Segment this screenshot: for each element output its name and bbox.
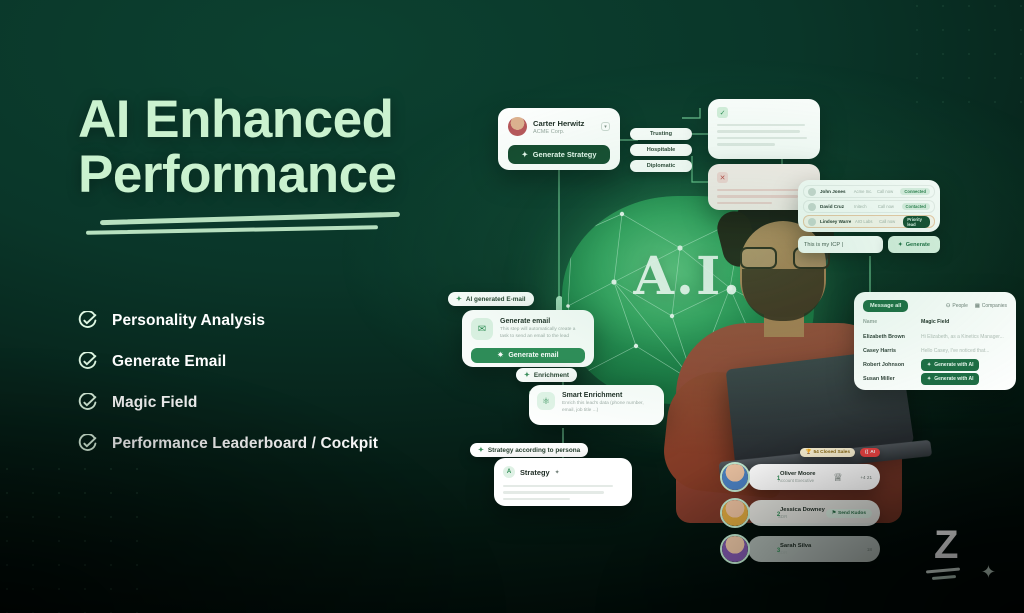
persona-name: Carter Herwitz [533, 119, 584, 128]
sparkle-icon: ✦ [927, 362, 931, 368]
generate-email-description: This step will automatically create a ta… [500, 327, 585, 341]
ai-email-chip: ✦ AI generated E-mail [448, 292, 534, 306]
leaderboard-row[interactable]: 1 Oliver Moore Account Executive ♕ +4 21 [720, 462, 880, 492]
building-icon: ▤ [975, 303, 980, 309]
envelope-icon: ✉ [471, 318, 493, 340]
table-row[interactable]: Lindsey Warren AIO Labs Call now Priorit… [803, 215, 935, 228]
leaderboard-name: Jessica Downey [780, 507, 825, 513]
wand-icon: ✦ [522, 150, 528, 159]
flag-icon: ⚑ [832, 511, 836, 516]
wand-icon: ✦ [524, 371, 530, 379]
tab-people-label: People [952, 303, 968, 309]
avatar [720, 462, 750, 492]
contact-name: Casey Harris [863, 348, 921, 354]
generate-with-ai-button[interactable]: ✦ Generate with AI [921, 373, 979, 385]
check-circle-icon [78, 352, 97, 371]
personality-tag[interactable]: Trusting [630, 128, 692, 140]
generate-with-ai-label: Generate with AI [934, 362, 973, 368]
ai-badge-label: AI [870, 450, 875, 455]
generate-with-ai-label: Generate with AI [934, 376, 973, 382]
lead-company: Initech [854, 204, 874, 209]
lead-company: AIO Labs [855, 219, 875, 224]
personality-tag-list: Trusting Hospitable Diplomatic [630, 128, 708, 176]
avatar [720, 498, 750, 528]
status-badge: Contacted [902, 203, 930, 210]
persona-card[interactable]: Carter Herwitz ACME Corp. ▾ ✦ Generate S… [498, 108, 620, 170]
feature-label: Performance Leaderboard / Cockpit [110, 433, 384, 455]
persona-company: ACME Corp. [533, 129, 584, 135]
chevron-down-icon[interactable]: ▾ [601, 122, 610, 131]
generate-strategy-button[interactable]: ✦ Generate Strategy [508, 145, 610, 164]
generate-email-button-label: Generate email [508, 352, 558, 359]
generate-email-card: ✉ Generate email This step will automati… [462, 310, 594, 367]
leaderboard-row[interactable]: 3 Sarah Silva SDR 18 [720, 534, 880, 564]
tab-companies-label: Companies [982, 303, 1007, 309]
contact-name: Elizabeth Brown [863, 334, 921, 340]
feature-label: Personality Analysis [110, 310, 271, 332]
enrichment-chip: ✦ Enrichment [516, 368, 577, 382]
icp-input[interactable]: This is my ICP | [798, 236, 883, 253]
lead-list-card: John Jones Acme Inc. Call now Connected … [798, 180, 940, 232]
closed-sales-badge: 🏆 54 Closed Sales [800, 448, 855, 457]
table-row: Robert Johnson ✦ Generate with AI [863, 358, 1007, 372]
generate-email-button[interactable]: ✷ Generate email [471, 348, 585, 363]
lead-name: David Cruz [820, 204, 850, 209]
signal-icon: (( [865, 450, 868, 455]
trophy-icon: 🏆 [805, 450, 811, 455]
ai-badge: (( AI [860, 448, 880, 457]
performance-leaderboard: 🏆 54 Closed Sales (( AI 1 Oliver Moore A… [720, 448, 880, 570]
feature-label: Magic Field [110, 392, 204, 414]
check-circle-icon [78, 393, 97, 412]
magic-field-card: Message all ⚇ People ▤ Companies Name Ma… [854, 292, 1016, 390]
close-icon: ✕ [717, 172, 728, 183]
poster-canvas: AI Enhanced Performance Personality Anal… [0, 0, 1024, 613]
enrichment-chip-label: Enrichment [534, 372, 569, 379]
avatar [808, 218, 816, 226]
positive-strategy-card: ✓ [708, 99, 820, 159]
logo-letter: Z [934, 525, 957, 565]
magic-field-value: Hi Elizabeth, as a Kinetics Manager... [921, 334, 1007, 340]
leaderboard-points: +4 21 [860, 475, 872, 480]
wand-icon: ✦ [456, 295, 462, 303]
contact-name: Susan Miller [863, 376, 921, 382]
table-row[interactable]: David Cruz Initech Call now Contacted [803, 200, 935, 213]
product-collage: A.I. Carter Herwitz ACME Corp. ▾ [430, 0, 1024, 613]
headline-underline [86, 212, 406, 238]
column-header-magic-field: Magic Field [921, 319, 949, 325]
tab-companies[interactable]: ▤ Companies [975, 303, 1007, 309]
magic-field-value: Hello Casey, I've noticed that... [921, 348, 1007, 354]
wand-icon: ✦ [898, 242, 903, 248]
send-kudos-label: Send Kudos [838, 511, 866, 516]
ai-email-chip-label: AI generated E-mail [466, 296, 526, 303]
trophy-icon: ♕ [833, 471, 843, 484]
check-circle-icon [78, 434, 97, 453]
generate-label: Generate [906, 242, 930, 248]
strategy-title: Strategy [520, 468, 550, 477]
dot-grid-decoration [0, 457, 144, 613]
leaderboard-name: Oliver Moore [780, 471, 815, 477]
check-icon: ✓ [717, 107, 728, 118]
strategy-chip-label: Strategy according to persona [488, 447, 580, 454]
leaderboard-name: Sarah Silva [780, 543, 811, 549]
wand-icon: ✦ [478, 446, 484, 454]
molecule-icon: ⚛ [537, 392, 555, 410]
generate-button[interactable]: ✦ Generate [888, 236, 940, 253]
rank-number: 2 [774, 509, 783, 521]
avatar: A [503, 466, 515, 478]
wand-icon: ✦ [555, 469, 560, 476]
leaderboard-role: SDR [778, 514, 825, 519]
lead-name: Lindsey Warren [820, 219, 851, 224]
send-kudos-button[interactable]: ⚑ Send Kudos [826, 509, 872, 518]
message-all-button[interactable]: Message all [863, 300, 908, 312]
status-badge: Priority lead [903, 216, 930, 228]
sparkle-icon: ✦ [927, 376, 931, 382]
closed-sales-label: 54 Closed Sales [813, 450, 850, 455]
smart-enrichment-description: Enrich this lead's data (phone number, e… [562, 401, 656, 415]
tab-people[interactable]: ⚇ People [946, 303, 968, 309]
personality-tag[interactable]: Hospitable [630, 144, 692, 156]
sparkle-icon: ✦ [981, 562, 996, 583]
contact-name: Robert Johnson [863, 362, 921, 368]
lead-phone: Call now [879, 219, 899, 224]
strategy-card: A Strategy ✦ [494, 458, 632, 506]
smart-enrichment-card: ⚛ Smart Enrichment Enrich this lead's da… [529, 385, 664, 425]
lead-phone: Call now [878, 204, 898, 209]
leaderboard-points: 18 [867, 547, 872, 552]
feature-label: Generate Email [110, 351, 232, 373]
lead-company: Acme Inc. [854, 189, 873, 194]
column-header-name: Name [863, 319, 921, 325]
avatar [508, 117, 527, 136]
brand-logo: Z ✦ [926, 525, 998, 587]
status-badge: Connected [900, 188, 930, 195]
leaderboard-row[interactable]: 2 Jessica Downey SDR ⚑ Send Kudos [720, 498, 880, 528]
check-circle-icon [78, 311, 97, 330]
lead-name: John Jones [820, 189, 850, 194]
table-row: Casey Harris Hello Casey, I've noticed t… [863, 344, 1007, 358]
generate-strategy-label: Generate Strategy [533, 150, 597, 159]
table-row: Elizabeth Brown Hi Elizabeth, as a Kinet… [863, 330, 1007, 344]
table-row: Susan Miller ✦ Generate with AI [863, 372, 1007, 386]
generate-with-ai-button[interactable]: ✦ Generate with AI [921, 359, 979, 371]
avatar [720, 534, 750, 564]
lead-phone: Call now [877, 189, 896, 194]
leaderboard-role: Account Executive [778, 478, 815, 483]
table-row[interactable]: John Jones Acme Inc. Call now Connected [803, 185, 935, 198]
sparkle-icon: ✷ [497, 351, 503, 359]
smart-enrichment-title: Smart Enrichment [562, 392, 656, 399]
avatar [808, 203, 816, 211]
personality-tag[interactable]: Diplomatic [630, 160, 692, 172]
rank-number: 1 [774, 473, 783, 485]
icp-prompt-row: This is my ICP | ✦ Generate [798, 236, 940, 253]
strategy-chip: ✦ Strategy according to persona [470, 443, 588, 457]
people-icon: ⚇ [946, 303, 950, 309]
avatar [808, 188, 816, 196]
generate-email-title: Generate email [500, 318, 585, 325]
rank-number: 3 [774, 545, 783, 557]
